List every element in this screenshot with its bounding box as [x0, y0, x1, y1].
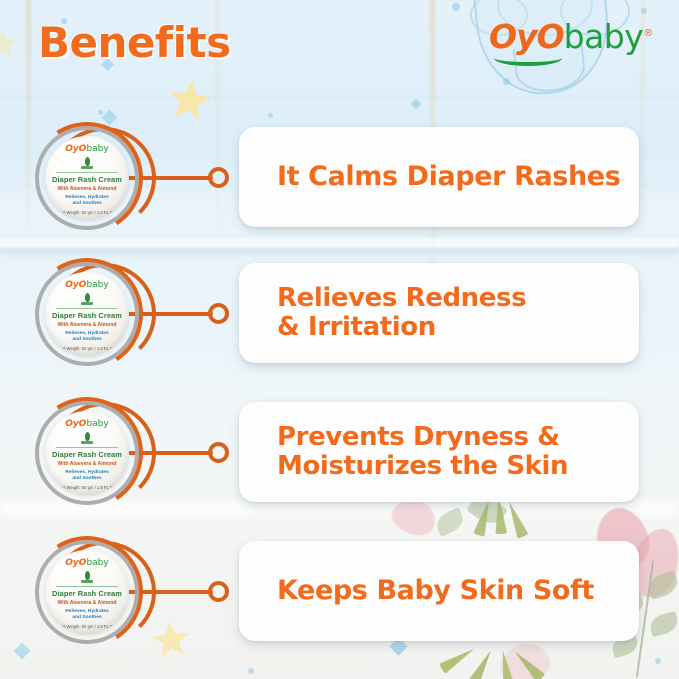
jar-ingredients: With Aloevera & Almond [57, 600, 116, 606]
aloe-leaf-seal-icon [81, 157, 93, 170]
benefit-text: Keeps Baby Skin Soft [239, 576, 610, 606]
page-title: Benefits [38, 18, 231, 67]
product-jar[interactable]: OyObaby Diaper Rash Cream With Aloevera … [35, 401, 139, 505]
jar-ingredients: With Aloevera & Almond [57, 186, 116, 192]
jar-net-weight: Net Weight: 50 gm / 1.8 FL Oz [59, 624, 115, 629]
benefit-row: OyObaby Diaper Rash Cream With Aloevera … [0, 121, 679, 235]
benefit-card[interactable]: Relieves Redness & Irritation [239, 263, 639, 363]
jar-brand-logo: OyObaby [65, 145, 108, 154]
jar-brand-logo: OyObaby [65, 281, 108, 290]
product-jar[interactable]: OyObaby Diaper Rash Cream With Aloevera … [35, 540, 139, 644]
infographic-canvas: Benefits OyObaby® OyObaby Diaper Rash Cr… [0, 0, 679, 679]
jar-product-name: Diaper Rash Cream [52, 175, 122, 184]
background-dot [268, 113, 273, 118]
jar-claims: Relieves, Hydrates and Soothes [65, 470, 109, 483]
jar-claims: Relieves, Hydrates and Soothes [65, 195, 109, 208]
divider [56, 308, 118, 309]
benefit-card[interactable]: Prevents Dryness & Moisturizes the Skin [239, 402, 639, 502]
brand-logo: OyObaby® [489, 20, 653, 53]
background-dot [655, 658, 661, 664]
jar-brand-logo: OyObaby [65, 420, 108, 429]
shelf-band [0, 248, 679, 254]
jar-claims: Relieves, Hydrates and Soothes [65, 331, 109, 344]
jar-label: OyObaby Diaper Rash Cream With Aloevera … [45, 411, 129, 495]
jar-claims: Relieves, Hydrates and Soothes [65, 609, 109, 622]
connector-end-circle-icon [208, 442, 229, 463]
jar-net-weight: Net Weight: 50 gm / 1.8 FL Oz [59, 346, 115, 351]
benefit-card[interactable]: Keeps Baby Skin Soft [239, 541, 639, 641]
shelf-band [0, 238, 679, 248]
benefit-text: Relieves Redness & Irritation [239, 284, 542, 342]
jar-brand-oyo: OyO [65, 280, 86, 290]
product-jar[interactable]: OyObaby Diaper Rash Cream With Aloevera … [35, 262, 139, 366]
jar-ingredients: With Aloevera & Almond [57, 461, 116, 467]
connector-end-circle-icon [208, 167, 229, 188]
product-jar[interactable]: OyObaby Diaper Rash Cream With Aloevera … [35, 126, 139, 230]
background-dot [641, 8, 647, 14]
jar-label: OyObaby Diaper Rash Cream With Aloevera … [45, 136, 129, 220]
registered-trademark-icon: ® [643, 28, 653, 39]
jar-product-name: Diaper Rash Cream [52, 311, 122, 320]
connector-end-circle-icon [208, 303, 229, 324]
jar-brand-oyo: OyO [65, 419, 86, 429]
jar-net-weight: Net Weight: 50 gm / 1.8 FL Oz [59, 485, 115, 490]
jar-brand-baby: baby [86, 419, 108, 429]
jar-brand-logo: OyObaby [65, 559, 108, 568]
divider [56, 586, 118, 587]
jar-product-name: Diaper Rash Cream [52, 589, 122, 598]
jar-brand-oyo: OyO [65, 558, 86, 568]
benefit-text: It Calms Diaper Rashes [239, 162, 636, 192]
background-dot [503, 78, 510, 85]
connector-end-circle-icon [208, 581, 229, 602]
jar-product-name: Diaper Rash Cream [52, 450, 122, 459]
jar-brand-baby: baby [86, 558, 108, 568]
tile-line [0, 96, 679, 98]
divider [56, 447, 118, 448]
benefit-row: OyObaby Diaper Rash Cream With Aloevera … [0, 535, 679, 649]
jar-lid: OyObaby Diaper Rash Cream With Aloevera … [45, 550, 129, 634]
divider [56, 172, 118, 173]
brand-swoosh-icon [494, 50, 562, 66]
jar-ingredients: With Aloevera & Almond [57, 322, 116, 328]
background-dot [452, 3, 460, 11]
jar-net-weight: Net Weight: 50 gm / 1.8 FL Oz [59, 210, 115, 215]
jar-brand-baby: baby [86, 144, 108, 154]
jar-lid: OyObaby Diaper Rash Cream With Aloevera … [45, 411, 129, 495]
benefit-row: OyObaby Diaper Rash Cream With Aloevera … [0, 257, 679, 371]
benefit-row: OyObaby Diaper Rash Cream With Aloevera … [0, 396, 679, 510]
aloe-leaf-seal-icon [81, 293, 93, 306]
jar-lid: OyObaby Diaper Rash Cream With Aloevera … [45, 136, 129, 220]
jar-lid: OyObaby Diaper Rash Cream With Aloevera … [45, 272, 129, 356]
jar-brand-oyo: OyO [65, 144, 86, 154]
background-dot [98, 110, 103, 115]
jar-label: OyObaby Diaper Rash Cream With Aloevera … [45, 272, 129, 356]
jar-label: OyObaby Diaper Rash Cream With Aloevera … [45, 550, 129, 634]
brand-logo-baby: baby [564, 17, 644, 56]
jar-brand-baby: baby [86, 280, 108, 290]
benefit-card[interactable]: It Calms Diaper Rashes [239, 127, 639, 227]
background-dot [248, 668, 254, 674]
aloe-leaf-seal-icon [81, 432, 93, 445]
benefit-text: Prevents Dryness & Moisturizes the Skin [239, 423, 584, 481]
aloe-leaf-seal-icon [81, 571, 93, 584]
